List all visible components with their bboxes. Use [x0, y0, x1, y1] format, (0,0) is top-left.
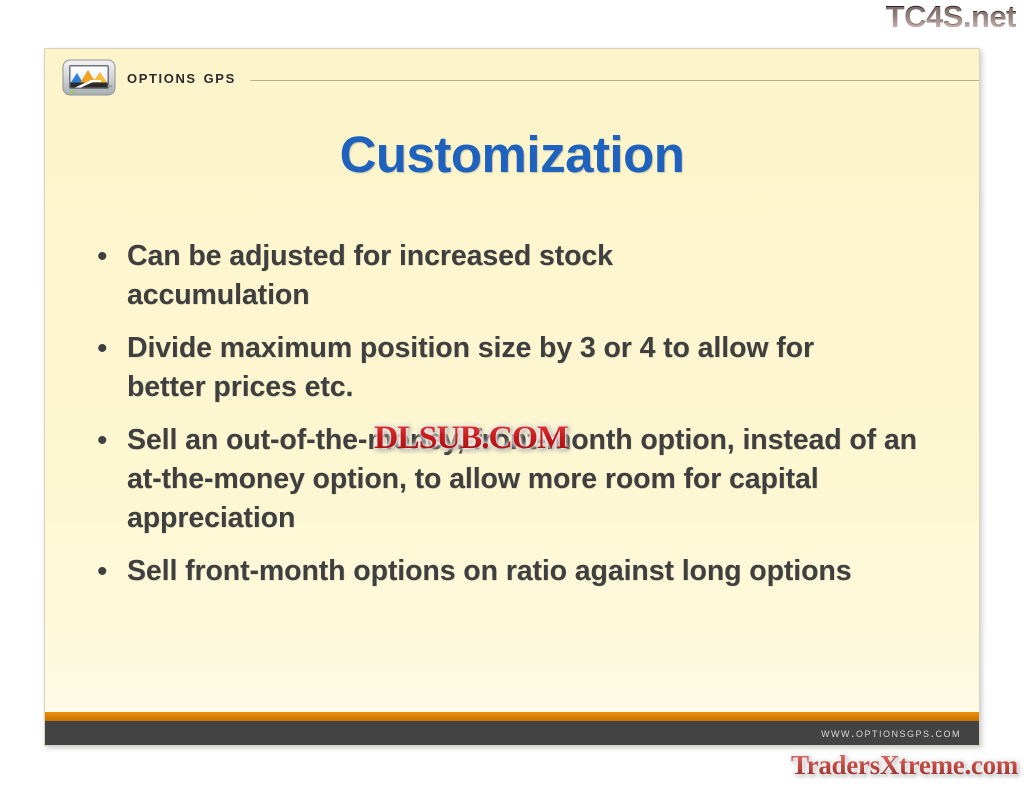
- tc4s-watermark: TC4S.net: [886, 1, 1016, 32]
- brand-name: Options GPS: [127, 67, 236, 89]
- list-item-text: Divide maximum position size by 3 or 4 t…: [127, 329, 867, 407]
- footer-url: www.OptionsGPS.com: [821, 726, 961, 740]
- tradersxtreme-watermark: TradersXtreme.com: [791, 752, 1018, 779]
- bullet-icon: •: [97, 421, 127, 461]
- list-item-text: Sell front-month options on ratio agains…: [127, 552, 927, 591]
- presentation-slide: Options GPS Customization • Can be adjus…: [44, 48, 980, 746]
- list-item: • Divide maximum position size by 3 or 4…: [97, 329, 957, 407]
- list-item: • Sell front-month options on ratio agai…: [97, 552, 957, 592]
- bullet-icon: •: [97, 237, 127, 277]
- bullet-icon: •: [97, 552, 127, 592]
- list-item-text: Can be adjusted for increased stock accu…: [127, 237, 777, 315]
- dlsub-watermark: DLSUB.COM: [374, 422, 568, 455]
- slide-footer: www.OptionsGPS.com: [45, 721, 979, 745]
- bullet-icon: •: [97, 329, 127, 369]
- footer-accent-bar: [45, 712, 979, 721]
- page-title: Customization: [45, 125, 979, 184]
- gps-device-icon: [61, 56, 117, 100]
- list-item: • Can be adjusted for increased stock ac…: [97, 237, 957, 315]
- slide-header: Options GPS: [45, 49, 979, 107]
- header-divider: [250, 80, 979, 81]
